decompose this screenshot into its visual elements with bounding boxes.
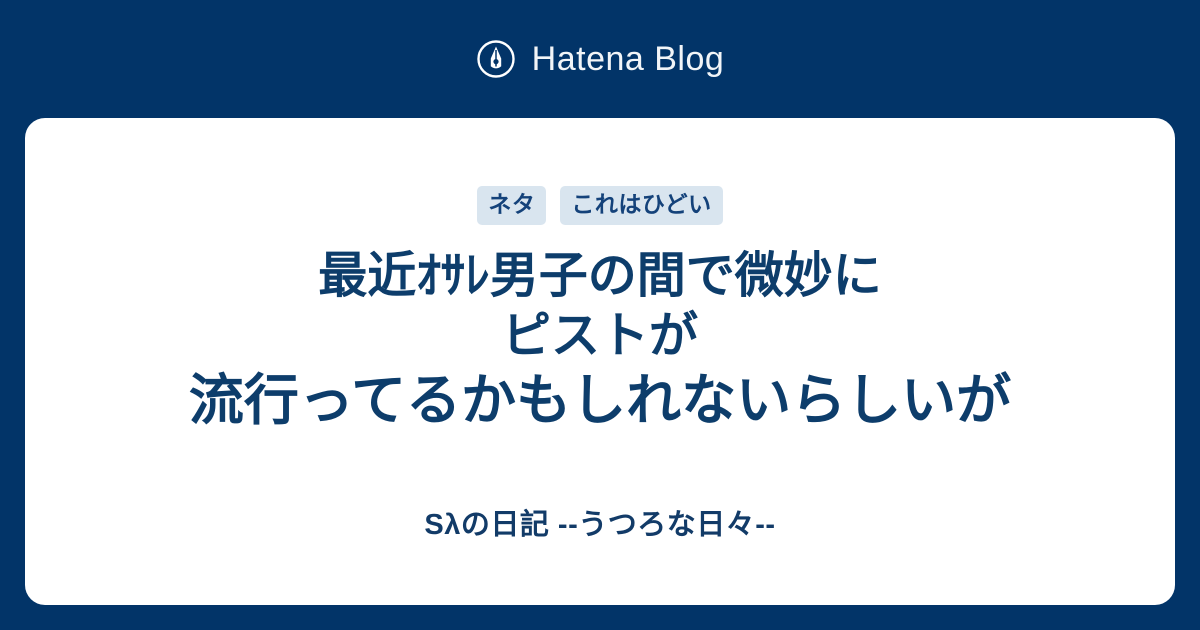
- hatena-blog-brand-bar: Hatena Blog: [0, 0, 1200, 118]
- hatena-pen-nib-icon: [476, 39, 516, 79]
- ogp-card-root: Hatena Blog ネタ これはひどい 最近ｵｻﾚ男子の間で微妙に ピストが…: [0, 0, 1200, 630]
- entry-title-line: ピストが: [65, 307, 1135, 367]
- hatena-blog-brand-name: Hatena Blog: [532, 42, 725, 76]
- blog-name: Sλの日記 --うつろな日々--: [25, 501, 1175, 543]
- tag-item[interactable]: これはひどい: [560, 186, 722, 225]
- entry-card: ネタ これはひどい 最近ｵｻﾚ男子の間で微妙に ピストが 流行ってるかもしれない…: [25, 118, 1175, 605]
- entry-title: 最近ｵｻﾚ男子の間で微妙に ピストが 流行ってるかもしれないらしいが: [65, 247, 1135, 434]
- tag-item[interactable]: ネタ: [477, 186, 546, 225]
- entry-title-line: 流行ってるかもしれないらしいが: [65, 367, 1135, 434]
- entry-title-line: 最近ｵｻﾚ男子の間で微妙に: [65, 247, 1135, 307]
- tag-list: ネタ これはひどい: [477, 186, 722, 225]
